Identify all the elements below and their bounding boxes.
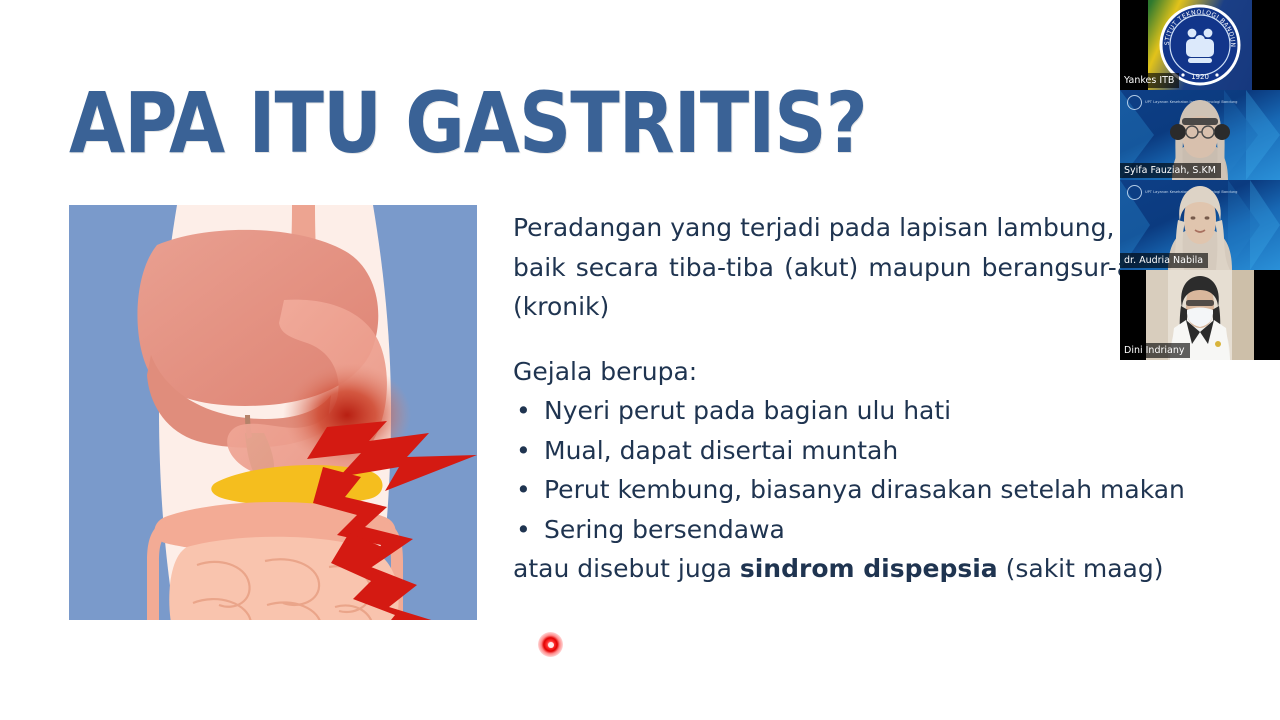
- participant-name-label: Yankes ITB: [1120, 73, 1179, 88]
- laser-pointer-dot: [538, 632, 563, 657]
- presentation-slide: APA ITU GASTRITIS?: [0, 0, 1280, 720]
- bullet-icon: •: [516, 391, 531, 431]
- bullet-icon: •: [516, 470, 531, 510]
- list-item: • Sering bersendawa: [513, 510, 1203, 550]
- participant-name-label: Syifa Fauziah, S.KM: [1120, 163, 1221, 178]
- definition-paragraph: Peradangan yang terjadi pada lapisan lam…: [513, 208, 1203, 327]
- participant-name-label: Dini Indriany: [1120, 343, 1190, 358]
- video-tile-dini-indriany[interactable]: Dini Indriany: [1120, 270, 1280, 360]
- list-item-label: Sering bersendawa: [544, 515, 785, 544]
- list-item: • Mual, dapat disertai muntah: [513, 431, 1203, 471]
- bullet-icon: •: [516, 510, 531, 550]
- closing-suffix: (sakit maag): [998, 554, 1164, 583]
- laser-pointer-core: [548, 642, 554, 648]
- video-participant-panel: INSTITUT TEKNOLOGI BANDUNG 1920 Yankes I…: [1120, 0, 1280, 360]
- closing-line: atau disebut juga sindrom dispepsia (sak…: [513, 549, 1203, 589]
- list-item: • Nyeri perut pada bagian ulu hati: [513, 391, 1203, 431]
- symptoms-list: • Nyeri perut pada bagian ulu hati • Mua…: [513, 391, 1203, 549]
- closing-term: sindrom dispepsia: [740, 554, 998, 583]
- bullet-icon: •: [516, 431, 531, 471]
- closing-prefix: atau disebut juga: [513, 554, 740, 583]
- slide-body-text: Peradangan yang terjadi pada lapisan lam…: [513, 208, 1203, 589]
- list-item-label: Mual, dapat disertai muntah: [544, 436, 898, 465]
- list-item-label: Nyeri perut pada bagian ulu hati: [544, 396, 951, 425]
- list-item-label: Perut kembung, biasanya dirasakan setela…: [544, 475, 1185, 504]
- list-item: • Perut kembung, biasanya dirasakan sete…: [513, 470, 1203, 510]
- video-tile-dr-audria-nabila[interactable]: UPT Layanan Kesehatan Institut Teknologi…: [1120, 180, 1280, 270]
- paragraph-spacer: [513, 327, 1203, 352]
- symptoms-heading: Gejala berupa:: [513, 352, 1203, 392]
- page-title: APA ITU GASTRITIS?: [69, 78, 867, 168]
- svg-text:1920: 1920: [1191, 73, 1209, 81]
- digestive-system-illustration: [69, 205, 477, 620]
- participant-name-label: dr. Audria Nabila: [1120, 253, 1208, 268]
- video-tile-yankes-itb[interactable]: INSTITUT TEKNOLOGI BANDUNG 1920 Yankes I…: [1120, 0, 1280, 90]
- video-tile-syifa-fauziah[interactable]: UPT Layanan Kesehatan Institut Teknologi…: [1120, 90, 1280, 180]
